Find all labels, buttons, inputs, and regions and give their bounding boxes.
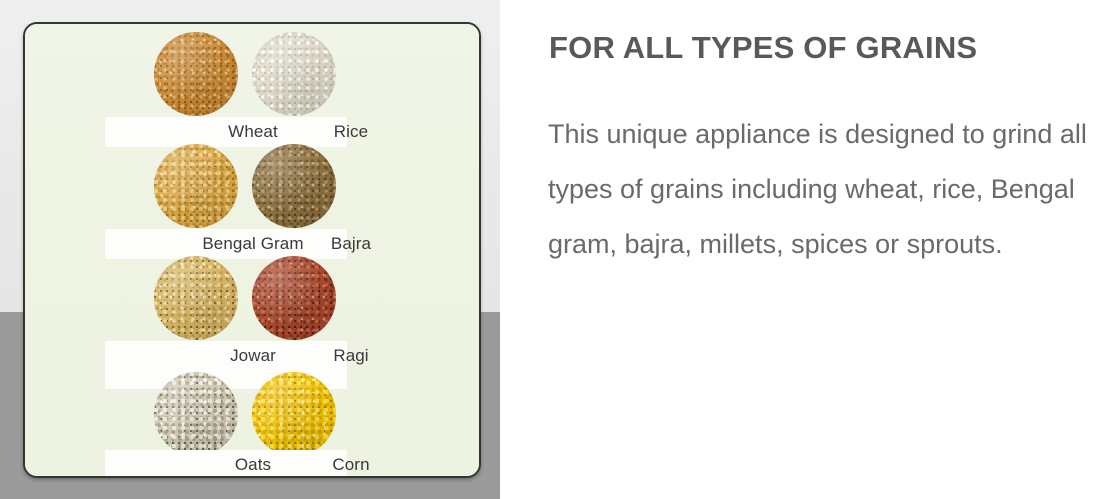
grain-texture — [154, 144, 238, 228]
grain-label-wheat: Wheat — [204, 117, 302, 147]
grain-cell-bajra — [245, 144, 343, 228]
grain-cell-ragi — [245, 256, 343, 340]
grain-label-oats: Oats — [204, 450, 302, 478]
grain-cell-oats — [147, 372, 245, 456]
feature-text-pane: FOR ALL TYPES OF GRAINS This unique appl… — [500, 0, 1114, 499]
grain-caption-band: Bengal Gram Bajra — [105, 229, 347, 259]
grain-bengal-swatch — [154, 144, 238, 228]
grain-label-jowar: Jowar — [204, 341, 302, 371]
grain-image-pane: Wheat Rice Bengal Gram Bajra — [0, 0, 500, 499]
grain-cell-corn — [245, 372, 343, 456]
grain-texture — [252, 144, 336, 228]
grain-texture — [252, 372, 336, 456]
grain-corn-swatch — [252, 372, 336, 456]
grain-cell-rice — [245, 32, 343, 116]
grain-card: Wheat Rice Bengal Gram Bajra — [23, 22, 481, 478]
grain-texture — [154, 256, 238, 340]
product-feature-screenshot: Wheat Rice Bengal Gram Bajra — [0, 0, 1114, 499]
grain-cell-wheat — [147, 32, 245, 116]
grain-label-corn: Corn — [302, 450, 400, 478]
grain-jowar-swatch — [154, 256, 238, 340]
grain-caption-band: Oats Corn — [105, 450, 347, 478]
grain-label-rice: Rice — [302, 117, 400, 147]
grain-texture — [154, 372, 238, 456]
grain-cell-bengal-gram — [147, 144, 245, 228]
grain-label-ragi: Ragi — [302, 341, 400, 371]
grain-bajra-swatch — [252, 144, 336, 228]
grain-ragi-swatch — [252, 256, 336, 340]
grain-oats-swatch — [154, 372, 238, 456]
feature-description: This unique appliance is designed to gri… — [548, 107, 1114, 272]
grain-wheat-swatch — [154, 32, 238, 116]
grain-texture — [252, 32, 336, 116]
grain-label-bajra: Bajra — [302, 229, 400, 259]
grain-cell-jowar — [147, 256, 245, 340]
page-title: FOR ALL TYPES OF GRAINS — [549, 30, 977, 66]
grain-caption-band: Wheat Rice — [105, 117, 347, 147]
grain-rice-swatch — [252, 32, 336, 116]
grain-texture — [252, 256, 336, 340]
grain-texture — [154, 32, 238, 116]
